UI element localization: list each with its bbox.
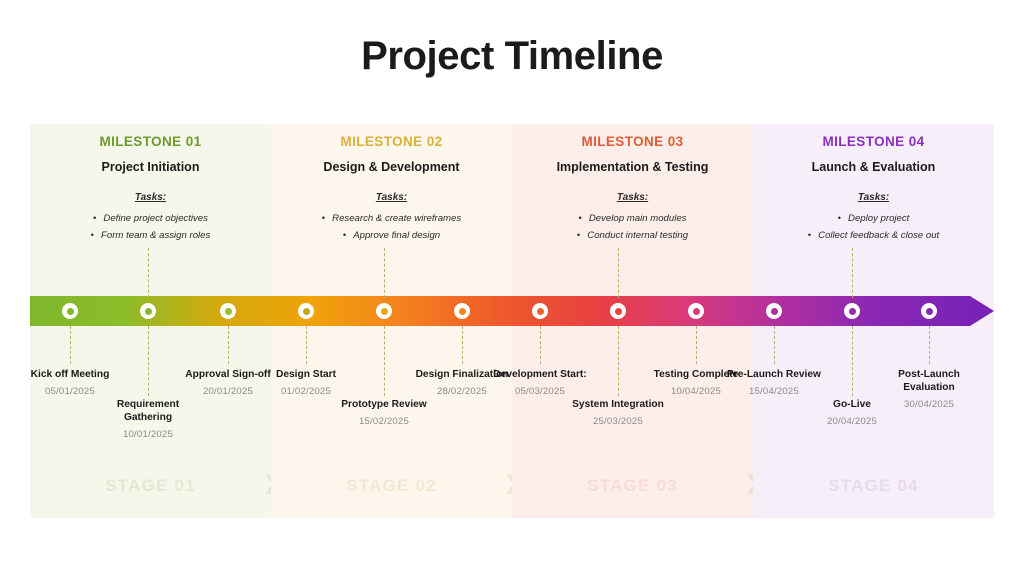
- task-item: Approve final design: [279, 228, 504, 245]
- connector-line-down: [70, 326, 71, 364]
- timeline-event[interactable]: Design Start01/02/2025: [251, 368, 361, 397]
- stage-footer: STAGE 02: [271, 476, 512, 496]
- timeline-marker[interactable]: [376, 303, 392, 319]
- event-name: Design Start: [251, 368, 361, 381]
- connector-line-down: [929, 326, 930, 364]
- connector-line-down: [384, 326, 385, 396]
- milestone-title: Project Initiation: [38, 160, 263, 174]
- timeline-event[interactable]: Development Start:05/03/2025: [485, 368, 595, 397]
- tasks-heading: Tasks:: [761, 192, 986, 203]
- tasks-heading: Tasks:: [38, 192, 263, 203]
- connector-line-down: [148, 326, 149, 396]
- milestone-title: Launch & Evaluation: [761, 160, 986, 174]
- timeline-bar-track: [30, 296, 970, 326]
- timeline-event[interactable]: Post-Launch Evaluation30/04/2025: [874, 368, 984, 410]
- marker-dot-icon: [303, 308, 310, 315]
- marker-dot-icon: [693, 308, 700, 315]
- timeline-marker[interactable]: [610, 303, 626, 319]
- stage-label: STAGE 03: [587, 476, 678, 496]
- task-item: Conduct internal testing: [520, 228, 745, 245]
- stage-label: STAGE 02: [346, 476, 437, 496]
- marker-dot-icon: [459, 308, 466, 315]
- milestone-title: Design & Development: [279, 160, 504, 174]
- milestone-content: MILESTONE 01Project InitiationTasks:Defi…: [30, 134, 271, 244]
- stage-footer: STAGE 03: [512, 476, 753, 496]
- stage-label: STAGE 01: [105, 476, 196, 496]
- event-date: 10/01/2025: [93, 429, 203, 440]
- event-date: 25/03/2025: [563, 416, 673, 427]
- timeline-marker[interactable]: [62, 303, 78, 319]
- milestone-label: MILESTONE 03: [520, 134, 745, 149]
- stage-footer: STAGE 01: [30, 476, 271, 496]
- timeline-arrow-icon: [970, 296, 994, 326]
- event-name: System Integration: [563, 398, 673, 411]
- connector-line-down: [852, 326, 853, 396]
- stage-footer: STAGE 04: [753, 476, 994, 496]
- timeline-infographic: Project Timeline MILESTONE 01Project Ini…: [0, 0, 1024, 576]
- timeline-marker[interactable]: [140, 303, 156, 319]
- connector-line-up: [852, 248, 853, 298]
- event-date: 30/04/2025: [874, 399, 984, 410]
- timeline-event[interactable]: System Integration25/03/2025: [563, 398, 673, 427]
- timeline-marker[interactable]: [532, 303, 548, 319]
- milestone-label: MILESTONE 04: [761, 134, 986, 149]
- event-date: 15/04/2025: [719, 386, 829, 397]
- event-date: 05/03/2025: [485, 386, 595, 397]
- task-item: Develop main modules: [520, 211, 745, 228]
- page-title: Project Timeline: [0, 34, 1024, 79]
- event-name: Kick off Meeting: [15, 368, 125, 381]
- milestone-label: MILESTONE 01: [38, 134, 263, 149]
- task-item: Define project objectives: [38, 211, 263, 228]
- connector-line-down: [618, 326, 619, 396]
- event-date: 20/04/2025: [797, 416, 907, 427]
- timeline-event[interactable]: Prototype Review15/02/2025: [329, 398, 439, 427]
- task-item: Deploy project: [761, 211, 986, 228]
- milestone-content: MILESTONE 03Implementation & TestingTask…: [512, 134, 753, 244]
- connector-line-down: [540, 326, 541, 364]
- marker-dot-icon: [615, 308, 622, 315]
- stage-label: STAGE 04: [828, 476, 919, 496]
- connector-line-down: [306, 326, 307, 364]
- marker-dot-icon: [145, 308, 152, 315]
- milestone-content: MILESTONE 02Design & DevelopmentTasks:Re…: [271, 134, 512, 244]
- marker-dot-icon: [537, 308, 544, 315]
- event-name: Pre-Launch Review: [719, 368, 829, 381]
- event-date: 15/02/2025: [329, 416, 439, 427]
- milestone-title: Implementation & Testing: [520, 160, 745, 174]
- tasks-heading: Tasks:: [279, 192, 504, 203]
- timeline-marker[interactable]: [298, 303, 314, 319]
- connector-line-down: [774, 326, 775, 364]
- marker-dot-icon: [67, 308, 74, 315]
- timeline-marker[interactable]: [844, 303, 860, 319]
- timeline-event[interactable]: Requirement Gathering10/01/2025: [93, 398, 203, 440]
- connector-line-down: [228, 326, 229, 364]
- connector-line-up: [148, 248, 149, 298]
- marker-dot-icon: [849, 308, 856, 315]
- tasks-heading: Tasks:: [520, 192, 745, 203]
- task-item: Form team & assign roles: [38, 228, 263, 245]
- milestone-label: MILESTONE 02: [279, 134, 504, 149]
- marker-dot-icon: [381, 308, 388, 315]
- connector-line-up: [384, 248, 385, 298]
- event-date: 01/02/2025: [251, 386, 361, 397]
- task-list: Deploy projectCollect feedback & close o…: [761, 211, 986, 244]
- task-item: Research & create wireframes: [279, 211, 504, 228]
- timeline-marker[interactable]: [220, 303, 236, 319]
- task-list: Define project objectivesForm team & ass…: [38, 211, 263, 244]
- task-item: Collect feedback & close out: [761, 228, 986, 245]
- marker-dot-icon: [225, 308, 232, 315]
- event-name: Requirement Gathering: [93, 398, 203, 424]
- milestone-content: MILESTONE 04Launch & EvaluationTasks:Dep…: [753, 134, 994, 244]
- connector-line-down: [462, 326, 463, 364]
- event-name: Prototype Review: [329, 398, 439, 411]
- timeline-event[interactable]: Kick off Meeting05/01/2025: [15, 368, 125, 397]
- connector-line-up: [618, 248, 619, 298]
- task-list: Research & create wireframesApprove fina…: [279, 211, 504, 244]
- event-name: Post-Launch Evaluation: [874, 368, 984, 394]
- timeline-marker[interactable]: [688, 303, 704, 319]
- event-name: Development Start:: [485, 368, 595, 381]
- event-date: 05/01/2025: [15, 386, 125, 397]
- marker-dot-icon: [771, 308, 778, 315]
- timeline-marker[interactable]: [454, 303, 470, 319]
- task-list: Develop main modulesConduct internal tes…: [520, 211, 745, 244]
- timeline-marker[interactable]: [921, 303, 937, 319]
- marker-dot-icon: [926, 308, 933, 315]
- timeline-marker[interactable]: [766, 303, 782, 319]
- connector-line-down: [696, 326, 697, 364]
- timeline-event[interactable]: Pre-Launch Review15/04/2025: [719, 368, 829, 397]
